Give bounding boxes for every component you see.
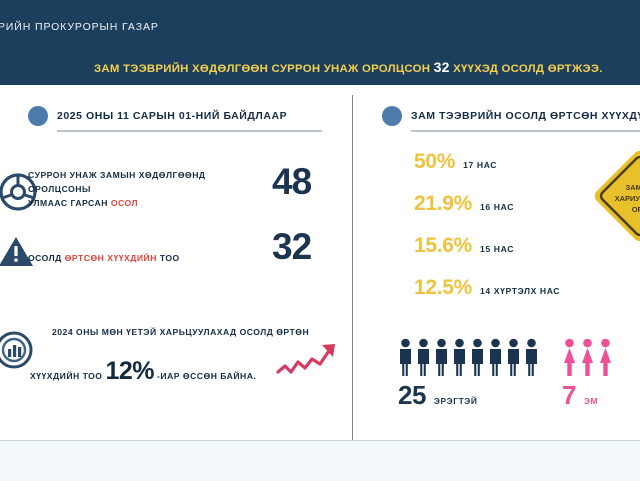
- female-figure-icon: [580, 338, 595, 376]
- infographic-page: ВРИЙН ПРОКУРОРЫН ГАЗАР ЗАМ ТЭЭВРИЙН ХӨДӨ…: [0, 0, 640, 480]
- age-percent-2: 15.6%: [414, 234, 472, 258]
- stat-2-label: ОСОЛД ӨРТСӨН ХҮҮХДИЙН ТОО: [28, 251, 258, 265]
- male-count: 25: [398, 382, 426, 408]
- growth-line2-pre: ХҮҮХДИЙН ТОО: [30, 371, 103, 381]
- male-figure-row: [398, 338, 539, 376]
- male-figure-icon: [506, 338, 521, 376]
- male-figure-icon: [470, 338, 485, 376]
- trending-up-arrow-icon: [276, 342, 346, 380]
- age-percent-1: 21.9%: [414, 192, 472, 216]
- bullet-circle-icon: [28, 106, 48, 126]
- age-percent-0: 50%: [414, 150, 455, 174]
- female-figure-icon: [598, 338, 613, 376]
- male-figure-icon: [398, 338, 413, 376]
- organization-name: ВРИЙН ПРОКУРОРЫН ГАЗАР: [0, 21, 159, 33]
- female-count-row: 7 ЭМ: [562, 382, 613, 408]
- right-section-title: ЗАМ ТЭЭВРИЙН ОСОЛД ӨРТСӨН ХҮҮХДҮҮДИЙН: [411, 110, 640, 122]
- right-section-rule: [411, 130, 640, 132]
- female-figure-icon: [562, 338, 577, 376]
- age-label-2: 15 НАС: [480, 244, 514, 254]
- panel-divider: [352, 95, 353, 445]
- headline: ЗАМ ТЭЭВРИЙН ХӨДӨЛГӨӨН СУРРОН УНАЖ ОРОЛЦ…: [94, 59, 603, 75]
- stat-2-label-pre: ОСОЛД: [28, 253, 65, 263]
- male-stat-block: 25 ЭРЭГТЭЙ: [398, 338, 539, 408]
- male-figure-icon: [434, 338, 449, 376]
- right-section-header: ЗАМ ТЭЭВРИЙН ОСОЛД ӨРТСӨН ХҮҮХДҮҮДИЙН: [382, 106, 640, 126]
- left-section-title: 2025 ОНЫ 11 САРЫН 01-НИЙ БАЙДЛААР: [57, 110, 287, 122]
- stat-1-line1: СУРРОН УНАЖ ЗАМЫН ХӨДӨЛГӨӨНД ОРОЛЦСОНЫ: [28, 170, 206, 194]
- age-row-2: 15.6% 15 НАС: [414, 234, 514, 258]
- female-label: ЭМ: [584, 396, 598, 406]
- growth-line1: 2024 ОНЫ МӨН ҮЕТЭЙ ХАРЬЦУУЛАХАД ОСОЛД ӨР…: [52, 327, 309, 337]
- age-row-0: 50% 17 НАС: [414, 150, 497, 174]
- stat-2-value: 32: [272, 228, 311, 265]
- growth-line2: ХҮҮХДИЙН ТОО 12% -ИАР ӨССӨН БАЙНА.: [30, 357, 256, 386]
- headline-text-part2: ХҮҮХЭД ОСОЛД ӨРТЖЭЭ.: [453, 63, 603, 75]
- stat-1-value: 48: [272, 163, 311, 200]
- stat-2-label-highlight: ӨРТСӨН ХҮҮХДИЙН: [65, 253, 157, 263]
- male-figure-icon: [488, 338, 503, 376]
- stat-1-line2-pre: УЛМААС ГАРСАН: [28, 198, 111, 208]
- male-figure-icon: [416, 338, 431, 376]
- male-label: ЭРЭГТЭЙ: [434, 396, 478, 406]
- bottom-strip: [0, 440, 640, 481]
- age-label-0: 17 НАС: [463, 160, 497, 170]
- male-figure-icon: [452, 338, 467, 376]
- left-section-rule: [57, 130, 322, 132]
- left-section-header: 2025 ОНЫ 11 САРЫН 01-НИЙ БАЙДЛААР: [28, 106, 287, 126]
- stat-2-label-post: ТОО: [157, 253, 180, 263]
- warning-sign-line2: ХАРИУЦЛАГА: [615, 194, 640, 203]
- age-row-3: 12.5% 14 ХҮРТЭЛХ НАС: [414, 276, 560, 300]
- age-percent-3: 12.5%: [414, 276, 472, 300]
- male-count-row: 25 ЭРЭГТЭЙ: [398, 382, 539, 408]
- age-label-3: 14 ХҮРТЭЛХ НАС: [480, 286, 560, 296]
- age-label-1: 16 НАС: [480, 202, 514, 212]
- chart-circle-icon: [0, 330, 34, 370]
- header-band: ВРИЙН ПРОКУРОРЫН ГАЗАР ЗАМ ТЭЭВРИЙН ХӨДӨ…: [0, 0, 640, 85]
- stat-1-label: СУРРОН УНАЖ ЗАМЫН ХӨДӨЛГӨӨНД ОРОЛЦСОНЫ У…: [28, 168, 258, 210]
- warning-sign-line3: ОРО: [632, 205, 640, 214]
- female-stat-block: 7 ЭМ: [562, 338, 613, 408]
- growth-percent: 12%: [106, 357, 155, 386]
- bullet-circle-icon: [382, 106, 402, 126]
- growth-line2-post: -ИАР ӨССӨН БАЙНА.: [157, 371, 256, 381]
- road-warning-sign-icon: ЗАМЫН ХАРИУЦЛАГА ОРО: [594, 150, 640, 242]
- female-figure-row: [562, 338, 613, 376]
- stat-1-line2-highlight: ОСОЛ: [111, 198, 138, 208]
- female-count: 7: [562, 382, 576, 408]
- headline-number: 32: [434, 59, 450, 75]
- headline-text-part1: ЗАМ ТЭЭВРИЙН ХӨДӨЛГӨӨН СУРРОН УНАЖ ОРОЛЦ…: [94, 63, 430, 75]
- age-row-1: 21.9% 16 НАС: [414, 192, 514, 216]
- warning-sign-line1: ЗАМЫН: [625, 183, 640, 192]
- male-figure-icon: [524, 338, 539, 376]
